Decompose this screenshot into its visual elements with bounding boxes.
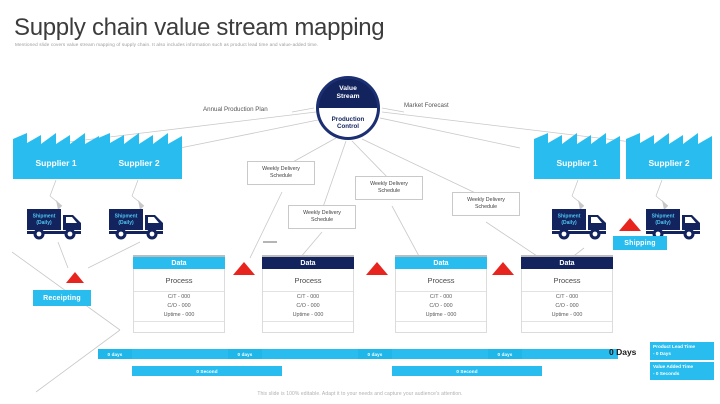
process-box-2[interactable]: Data Process C/T - 000 C/O - 000 Uptime …: [262, 258, 354, 333]
metric-co: C/O - 000: [167, 302, 190, 311]
supplier-label: Supplier 1: [534, 147, 620, 179]
svg-text:Shipment: Shipment: [558, 214, 581, 220]
metric-co: C/O - 000: [555, 302, 578, 311]
inventory-triangle-3: [492, 262, 514, 275]
timeline-bar-3: [392, 349, 488, 359]
timeline-days-3: 0 days: [358, 349, 392, 359]
receipting-label[interactable]: Receipting: [33, 290, 91, 306]
truck-icon: Shipment (Daily): [551, 206, 613, 240]
metric-ct: C/T - 000: [168, 293, 190, 302]
metric-uptime: Uptime - 000: [426, 311, 457, 320]
process-name: Process: [522, 270, 612, 292]
inventory-triangle-shipping: [619, 218, 641, 231]
annotation-annual-production-plan: Annual Production Plan: [203, 106, 268, 113]
weekly-delivery-schedule-3[interactable]: Weekly Delivery Schedule: [288, 205, 356, 229]
legend-title-2: Value Added Time: [653, 364, 711, 371]
weekly-delivery-schedule-1[interactable]: Weekly Delivery Schedule: [247, 161, 315, 185]
value-stream-top: Value Stream: [319, 79, 377, 108]
supplier-label: Supplier 2: [96, 147, 182, 179]
process-name: Process: [263, 270, 353, 292]
flow-dash-1: [263, 241, 277, 243]
process-metrics: C/T - 000 C/O - 000 Uptime - 000: [263, 292, 353, 322]
process-name: Process: [396, 270, 486, 292]
timeline-bar-1: [132, 349, 228, 359]
process-header: Data: [521, 257, 613, 269]
schedule-line2: Schedule: [311, 217, 333, 224]
process-blank-row: [263, 322, 353, 332]
metric-co: C/O - 000: [296, 302, 319, 311]
process-header: Data: [395, 257, 487, 269]
legend-value-added-time: Value Added Time - 0 Seconds: [650, 362, 714, 380]
metric-uptime: Uptime - 000: [164, 311, 195, 320]
value-stream-line1: Value: [339, 85, 357, 93]
inventory-triangle-receipting: [66, 272, 84, 283]
schedule-line2: Schedule: [378, 188, 400, 195]
schedule-line2: Schedule: [475, 204, 497, 211]
production-control-line2: Control: [337, 123, 359, 130]
inventory-triangle-2: [366, 262, 388, 275]
factory-left-supplier-2: Supplier 2: [96, 133, 182, 179]
process-header: Data: [133, 257, 225, 269]
annotation-market-forecast: Market Forecast: [404, 102, 449, 109]
production-control-line1: Production: [332, 116, 365, 123]
schedule-line1: Weekly Delivery: [262, 166, 300, 173]
svg-text:(Daily): (Daily): [118, 220, 134, 226]
legend-product-lead-time: Product Lead Time - 0 Days: [650, 342, 714, 360]
supplier-label: Supplier 1: [13, 147, 99, 179]
value-stream-line2: Stream: [336, 93, 359, 101]
svg-text:Shipment: Shipment: [33, 214, 56, 220]
legend-title-1: Product Lead Time: [653, 344, 711, 351]
factory-left-supplier-1: Supplier 1: [13, 133, 99, 179]
schedule-line2: Schedule: [270, 173, 292, 180]
shipping-label[interactable]: Shipping: [613, 236, 667, 250]
process-metrics: C/T - 000 C/O - 000 Uptime - 000: [134, 292, 224, 322]
metric-ct: C/T - 000: [556, 293, 578, 302]
schedule-line1: Weekly Delivery: [303, 210, 341, 217]
truck-shipment-4: Shipment (Daily): [645, 206, 707, 240]
process-box-1[interactable]: Data Process C/T - 000 C/O - 000 Uptime …: [133, 258, 225, 333]
svg-text:Shipment: Shipment: [652, 214, 675, 220]
production-control-bottom: Production Control: [319, 108, 377, 137]
truck-shipment-2: Shipment (Daily): [108, 206, 170, 240]
connector-lines: [0, 0, 720, 404]
process-name: Process: [134, 270, 224, 292]
factory-right-supplier-1: Supplier 1: [534, 133, 620, 179]
truck-icon: Shipment (Daily): [26, 206, 88, 240]
metric-uptime: Uptime - 000: [552, 311, 583, 320]
svg-text:(Daily): (Daily): [655, 220, 671, 226]
metric-co: C/O - 000: [429, 302, 452, 311]
process-blank-row: [396, 322, 486, 332]
timeline-days-4: 0 days: [488, 349, 522, 359]
process-box-3[interactable]: Data Process C/T - 000 C/O - 000 Uptime …: [395, 258, 487, 333]
svg-text:(Daily): (Daily): [36, 220, 52, 226]
metric-ct: C/T - 000: [430, 293, 452, 302]
schedule-line1: Weekly Delivery: [370, 181, 408, 188]
timeline-bar-4: [522, 349, 618, 359]
truck-icon: Shipment (Daily): [108, 206, 170, 240]
legend-value-2: - 0 Seconds: [653, 371, 711, 378]
process-blank-row: [134, 322, 224, 332]
slide-footer-note: This slide is 100% editable. Adapt it to…: [0, 391, 720, 397]
timeline-days-2: 0 days: [228, 349, 262, 359]
svg-text:Shipment: Shipment: [115, 214, 138, 220]
process-header: Data: [262, 257, 354, 269]
process-metrics: C/T - 000 C/O - 000 Uptime - 000: [396, 292, 486, 322]
weekly-delivery-schedule-4[interactable]: Weekly Delivery Schedule: [452, 192, 520, 216]
total-days-label: 0 Days: [609, 347, 636, 357]
legend-value-1: - 0 Days: [653, 351, 711, 358]
timeline-seconds-1: 0 Second: [132, 366, 282, 376]
inventory-triangle-1: [233, 262, 255, 275]
timeline-bar-2: [262, 349, 358, 359]
process-box-4[interactable]: Data Process C/T - 000 C/O - 000 Uptime …: [521, 258, 613, 333]
truck-shipment-1: Shipment (Daily): [26, 206, 88, 240]
schedule-line1: Weekly Delivery: [467, 197, 505, 204]
slide-canvas: Supply chain value stream mapping Mentio…: [0, 0, 720, 404]
truck-shipment-3: Shipment (Daily): [551, 206, 613, 240]
timeline-days-1: 0 days: [98, 349, 132, 359]
truck-icon: Shipment (Daily): [645, 206, 707, 240]
process-metrics: C/T - 000 C/O - 000 Uptime - 000: [522, 292, 612, 322]
value-stream-production-control-node[interactable]: Value Stream Production Control: [316, 76, 380, 140]
supplier-label: Supplier 2: [626, 147, 712, 179]
weekly-delivery-schedule-2[interactable]: Weekly Delivery Schedule: [355, 176, 423, 200]
metric-uptime: Uptime - 000: [293, 311, 324, 320]
svg-text:(Daily): (Daily): [561, 220, 577, 226]
timeline-seconds-2: 0 Second: [392, 366, 542, 376]
metric-ct: C/T - 000: [297, 293, 319, 302]
factory-right-supplier-2: Supplier 2: [626, 133, 712, 179]
process-blank-row: [522, 322, 612, 332]
